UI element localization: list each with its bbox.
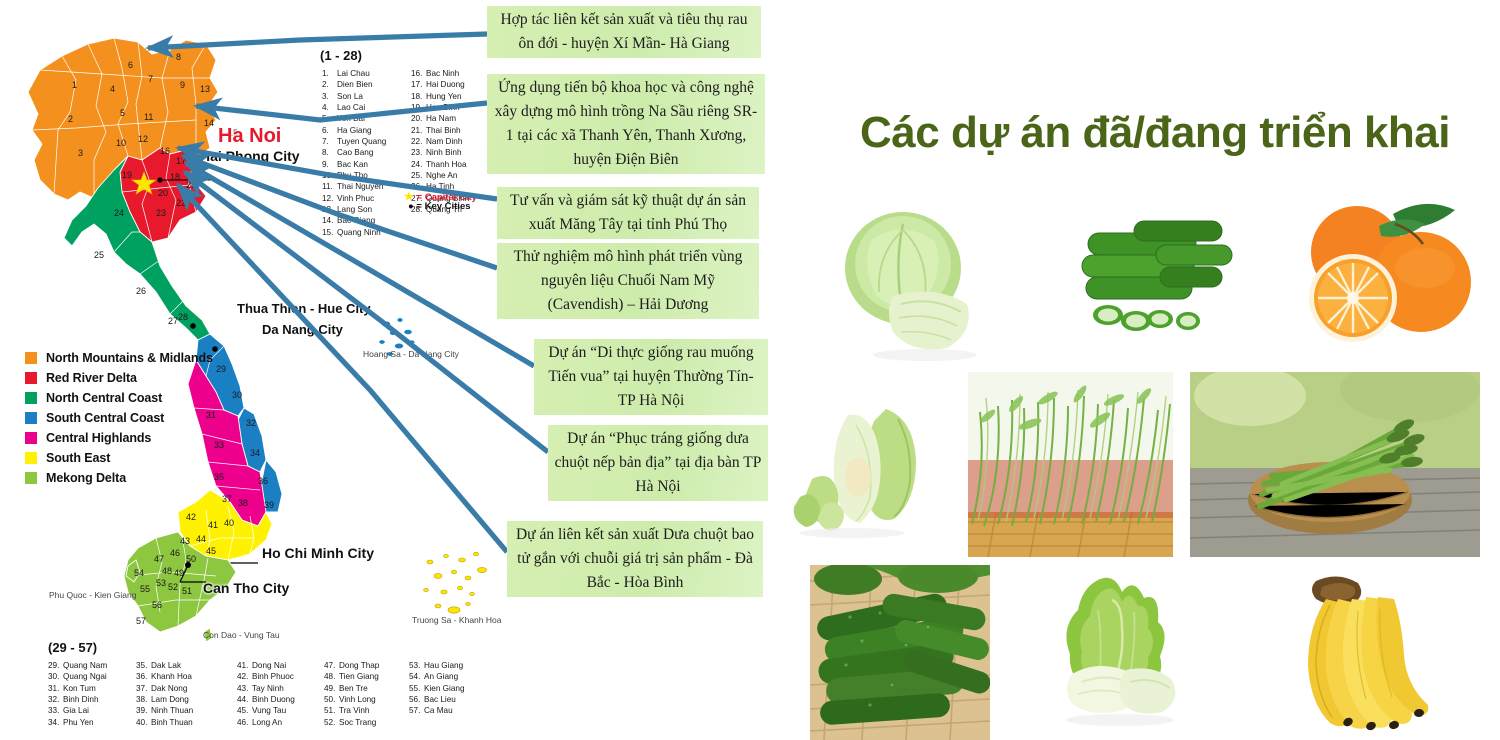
callout-box-3: Tư vấn và giám sát kỹ thuật dự án sản xu…: [497, 187, 759, 239]
photo-watercress: [968, 372, 1173, 557]
photo-cucumber: [1060, 205, 1255, 355]
callout-box-2: Ứng dụng tiến bộ khoa học và công nghệ x…: [487, 74, 765, 174]
photo-gallery-panel: Các dự án đã/đang triển khai: [790, 0, 1500, 740]
callout-box-5: Dự án “Di thực giống rau muống Tiến vua”…: [534, 339, 768, 415]
photo-napa-cabbage: [1030, 570, 1190, 735]
callout-box-7: Dự án liên kết sản xuất Dưa chuột bao tử…: [507, 521, 763, 597]
callout-box-1: Hợp tác liên kết sản xuất và tiêu thụ ra…: [487, 6, 761, 58]
photo-chayote: [790, 385, 965, 540]
arrow-to-callout-6: [185, 172, 548, 452]
photo-banana: [1230, 565, 1450, 740]
callout-box-6: Dự án “Phục tráng giống dưa chuột nếp bả…: [548, 425, 768, 501]
slide-root: .bd{stroke:#ffffff;stroke-width:0.9;} .t…: [0, 0, 1500, 740]
photo-orange: [1275, 190, 1480, 360]
page-title: Các dự án đã/đang triển khai: [860, 108, 1480, 158]
photo-cucumber-tray: [810, 565, 990, 740]
arrow-to-callout-7: [178, 185, 507, 552]
callout-box-4: Thử nghiệm mô hình phát triển vùng nguyê…: [497, 243, 759, 319]
arrow-to-callout-1: [148, 34, 487, 48]
photo-cabbage: [815, 200, 1020, 365]
arrow-to-callout-2: [196, 103, 487, 120]
photo-asparagus: [1190, 372, 1480, 557]
